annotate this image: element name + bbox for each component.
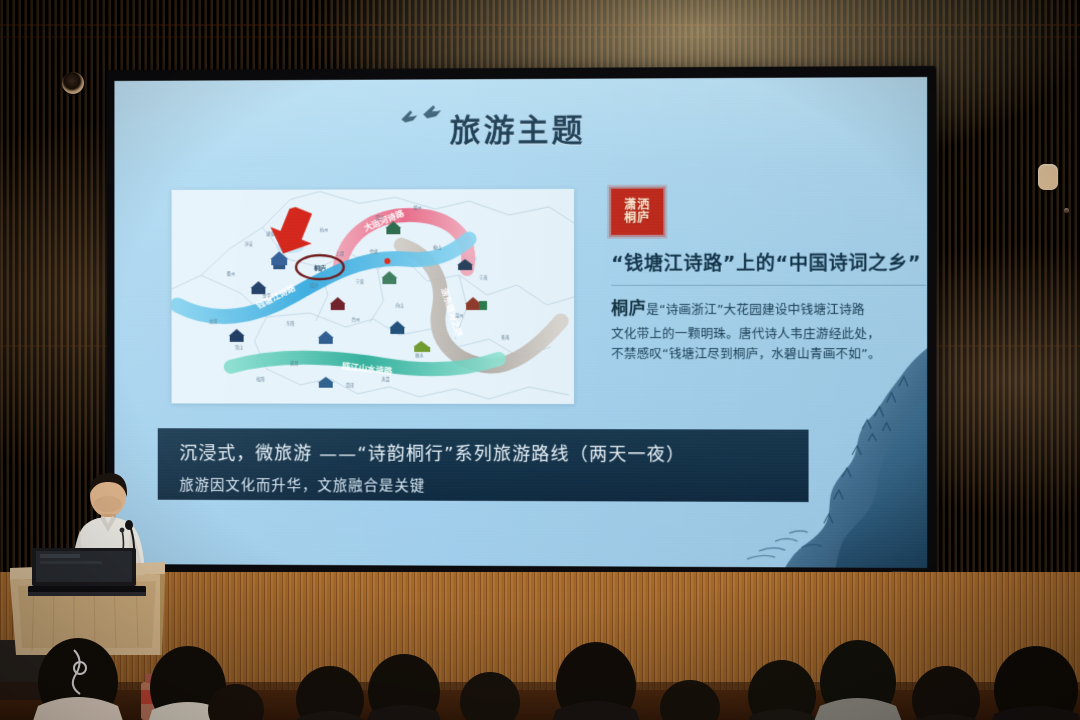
- svg-text:丽水: 丽水: [415, 352, 424, 358]
- body-text: 桐庐是“诗画浙江”大花园建设中钱塘江诗路 文化带上的一颗明珠。唐代诗人韦庄游经此…: [611, 296, 926, 365]
- svg-text:衢州: 衢州: [227, 270, 235, 276]
- audience-head: [460, 672, 520, 720]
- info-column: 潇洒 桐庐 “钱塘江诗路”上的“中国诗词之乡” 桐庐是“诗画浙江”大花园建设中钱…: [611, 188, 926, 364]
- headline: “钱塘江诗路”上的“中国诗词之乡”: [611, 248, 926, 276]
- svg-text:台州: 台州: [352, 316, 360, 322]
- svg-text:龙游: 龙游: [209, 318, 217, 324]
- svg-text:永嘉: 永嘉: [381, 376, 389, 382]
- divider: [611, 285, 926, 286]
- audience: [0, 610, 1080, 720]
- lecture-hall-scene: 旅游主题: [0, 0, 1080, 720]
- body-line-1: 是“诗画浙江”大花园建设中钱塘江诗路: [646, 302, 865, 317]
- svg-text:金华: 金华: [262, 292, 270, 298]
- seal-line-2: 桐庐: [624, 212, 650, 226]
- caption-bar: 沉浸式，微旅游 ——“诗韵桐行”系列旅游路线（两天一夜） 旅游因文化而升华，文旅…: [158, 428, 809, 502]
- audience-head: [910, 666, 982, 720]
- audience-head: [988, 646, 1080, 720]
- dome-camera-icon: [62, 72, 84, 94]
- page-title: 旅游主题: [114, 103, 927, 151]
- audience-head: [30, 638, 126, 720]
- svg-text:宁海: 宁海: [479, 274, 487, 280]
- wall-panel-light: [1038, 164, 1058, 190]
- audience-head: [548, 642, 644, 720]
- svg-text:青田: 青田: [346, 382, 354, 388]
- svg-text:舟山: 舟山: [395, 302, 403, 308]
- caption-line-2: 旅游因文化而升华，文旅融合是关键: [179, 474, 808, 497]
- audience-head: [744, 660, 820, 720]
- audience-head: [364, 654, 444, 720]
- svg-text:宁波: 宁波: [356, 278, 365, 284]
- svg-text:松阳: 松阳: [256, 376, 264, 382]
- svg-text:杭州: 杭州: [320, 226, 328, 232]
- body-lead: 桐庐: [611, 299, 646, 319]
- wall-screw: [1064, 208, 1069, 213]
- body-line-3: 不禁感叹“钱塘江尽到桐庐，水碧山青画不如”。: [611, 346, 881, 361]
- map-svg: 大运河诗路 钱塘江诗路 浙东唐诗之路 瓯江山水诗路: [172, 189, 574, 404]
- svg-text:东阳: 东阳: [286, 320, 294, 326]
- projection-screen: 旅游主题: [114, 77, 927, 568]
- body-line-2: 文化带上的一颗明珠。唐代诗人韦庄游经此处，: [611, 326, 880, 341]
- zhejiang-poetry-route-map: 大运河诗路 钱塘江诗路 浙东唐诗之路 瓯江山水诗路: [172, 189, 574, 404]
- svg-text:嘉兴: 嘉兴: [375, 214, 383, 220]
- svg-text:湖州: 湖州: [413, 204, 421, 210]
- projection-screen-frame: 旅游主题: [107, 66, 937, 577]
- svg-text:遂昌: 遂昌: [290, 360, 298, 366]
- svg-text:常山: 常山: [235, 344, 243, 350]
- svg-text:绍兴: 绍兴: [310, 282, 318, 288]
- status-badge: 潇洒 桐庐: [611, 189, 663, 235]
- audience-head: [810, 640, 906, 720]
- svg-text:淳安: 淳安: [245, 240, 253, 246]
- svg-text:桐庐: 桐庐: [314, 264, 326, 272]
- svg-text:象山: 象山: [433, 244, 441, 250]
- presentation-slide: 旅游主题: [114, 77, 927, 568]
- svg-text:苍南: 苍南: [501, 334, 509, 340]
- microphone: [120, 520, 146, 582]
- audience-head: [294, 666, 366, 720]
- svg-text:温州: 温州: [455, 312, 463, 318]
- svg-text:上虞: 上虞: [336, 250, 344, 256]
- svg-text:余姚: 余姚: [369, 248, 378, 254]
- caption-line-1: 沉浸式，微旅游 ——“诗韵桐行”系列旅游路线（两天一夜）: [179, 439, 808, 467]
